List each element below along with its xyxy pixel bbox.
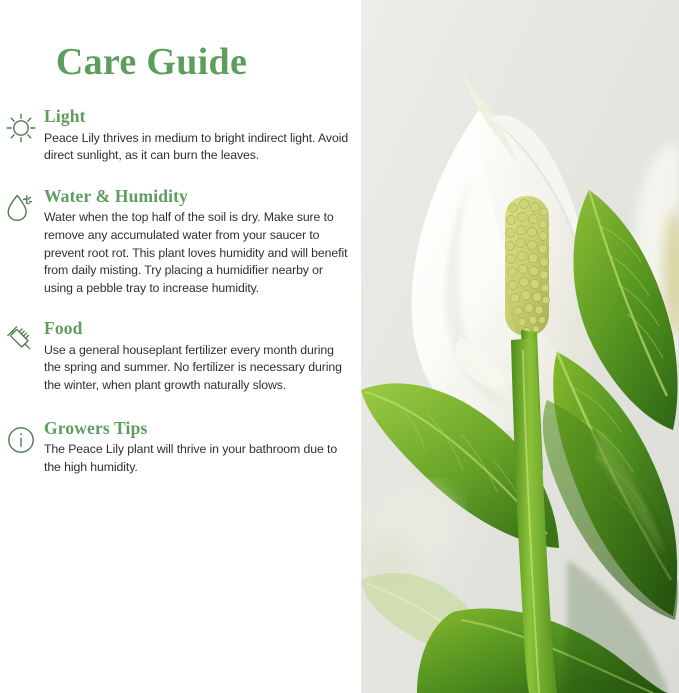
care-section-food: Food Use a general houseplant fertilizer…	[0, 319, 361, 394]
page-title: Care Guide	[0, 0, 361, 81]
care-section-heading: Growers Tips	[44, 419, 349, 439]
care-section-heading: Food	[44, 319, 349, 339]
care-section-growers-tips: Growers Tips The Peace Lily plant will t…	[0, 419, 361, 477]
care-guide-page: Care Guide	[0, 0, 679, 693]
care-section-body: Water when the top half of the soil is d…	[44, 209, 349, 297]
peace-lily-photo	[361, 0, 679, 693]
care-section-light: Light Peace Lily thrives in medium to br…	[0, 107, 361, 165]
care-section-heading: Water & Humidity	[44, 187, 349, 207]
care-sections-list: Light Peace Lily thrives in medium to br…	[0, 107, 361, 476]
care-section-water-humidity: Water & Humidity Water when the top half…	[0, 187, 361, 297]
info-circle-icon	[2, 421, 40, 459]
care-section-body: The Peace Lily plant will thrive in your…	[44, 441, 349, 476]
care-section-body: Use a general houseplant fertilizer ever…	[44, 342, 349, 395]
sun-icon	[2, 109, 40, 147]
care-section-body: Peace Lily thrives in medium to bright i…	[44, 130, 349, 165]
syringe-icon	[2, 321, 40, 359]
water-droplet-humidity-icon	[2, 189, 40, 227]
care-panel: Care Guide	[0, 0, 361, 693]
care-section-heading: Light	[44, 107, 349, 127]
